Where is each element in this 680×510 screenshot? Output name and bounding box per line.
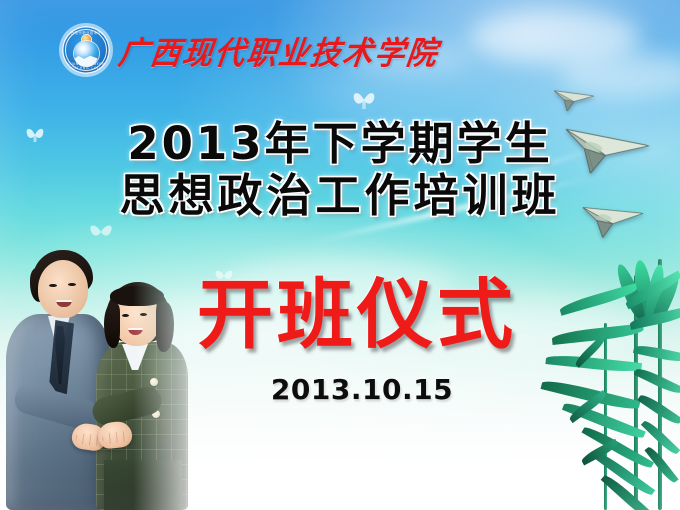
event-date: 2013.10.15 xyxy=(0,373,680,406)
bamboo-leaf xyxy=(545,353,642,374)
headline-block: 开班仪式 xyxy=(0,275,680,355)
presentation-banner: 广西现代职业技术学院 GUANGXI MODERN POLYTECHNIC CO… xyxy=(0,0,680,510)
school-seal-logo-icon: 广西现代职业技术学院 GUANGXI MODERN POLYTECHNIC CO… xyxy=(62,26,110,74)
event-title-block: 2013年下学期学生 思想政治工作培训班 xyxy=(0,118,680,222)
school-identity-block: 广西现代职业技术学院 GUANGXI MODERN POLYTECHNIC CO… xyxy=(62,26,439,74)
butterfly-icon xyxy=(352,90,376,110)
girl-skirt xyxy=(104,460,182,510)
school-name-text: 广西现代职业技术学院 xyxy=(116,27,442,74)
event-title-line-2: 思想政治工作培训班 xyxy=(0,170,680,222)
event-title-line-1: 2013年下学期学生 xyxy=(0,118,680,170)
seal-bottom-text: GUANGXI MODERN POLYTECHNIC COLLEGE xyxy=(62,62,110,70)
headline-text: 开班仪式 xyxy=(197,275,517,355)
butterfly-icon xyxy=(88,222,114,242)
